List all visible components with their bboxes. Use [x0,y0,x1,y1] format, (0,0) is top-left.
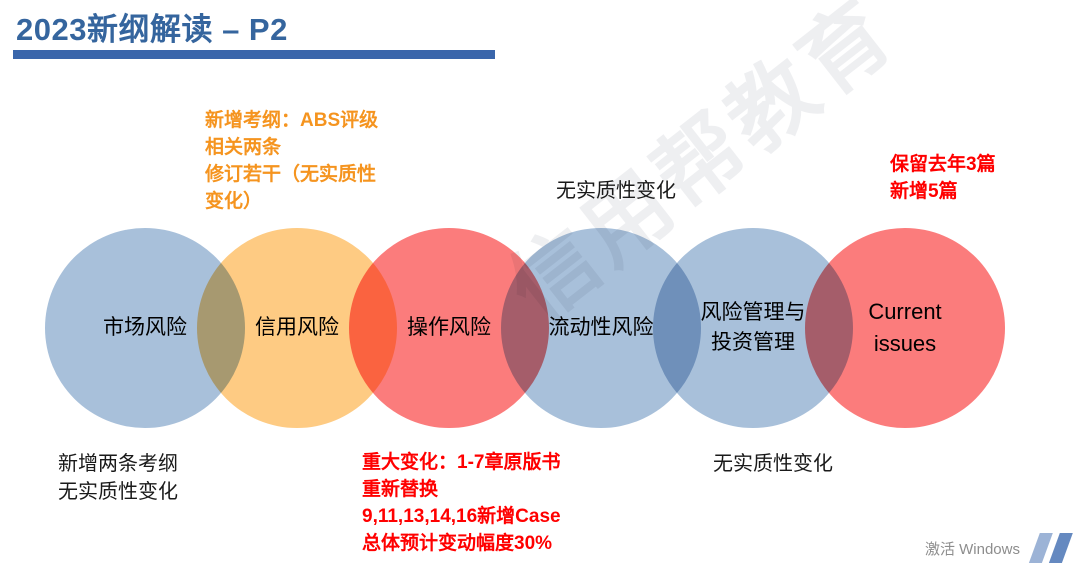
windows-activation-watermark: 激活 Windows [925,533,1074,563]
venn-label-line: 流动性风险 [549,313,654,343]
venn-label-current-issues: Current issues [805,228,1005,428]
venn-label-line: issues [874,328,936,360]
venn-label-line: 信用风险 [255,313,339,343]
windows-activation-label: 激活 Windows [925,538,1020,559]
annotation-operational-risk-bottom: 重大变化：1-7章原版书 重新替换 9,11,13,14,16新增Case 总体… [362,450,561,558]
venn-label-line: 风险管理与 [701,298,806,328]
venn-label-line: 操作风险 [407,313,491,343]
venn-label-line: 投资管理 [711,328,795,358]
annotation-current-issues-top: 保留去年3篇 新增5篇 [890,152,996,206]
windows-logo-icon [1028,533,1074,563]
annotation-credit-risk-top: 新增考纲：ABS评级 相关两条 修订若干（无实质性 变化） [205,108,378,216]
annotation-market-risk-bottom: 新增两条考纲 无实质性变化 [58,450,178,507]
slide-canvas: 2023新纲解读 – P2 信用帮教育 市场风险 信用风险 操作风险 流动性风险… [0,0,1080,567]
venn-label-line: Current [868,296,941,328]
annotation-liquidity-risk-top: 无实质性变化 [556,177,676,205]
venn-label-line: 市场风险 [103,313,187,343]
annotation-risk-management-bottom: 无实质性变化 [713,450,833,478]
